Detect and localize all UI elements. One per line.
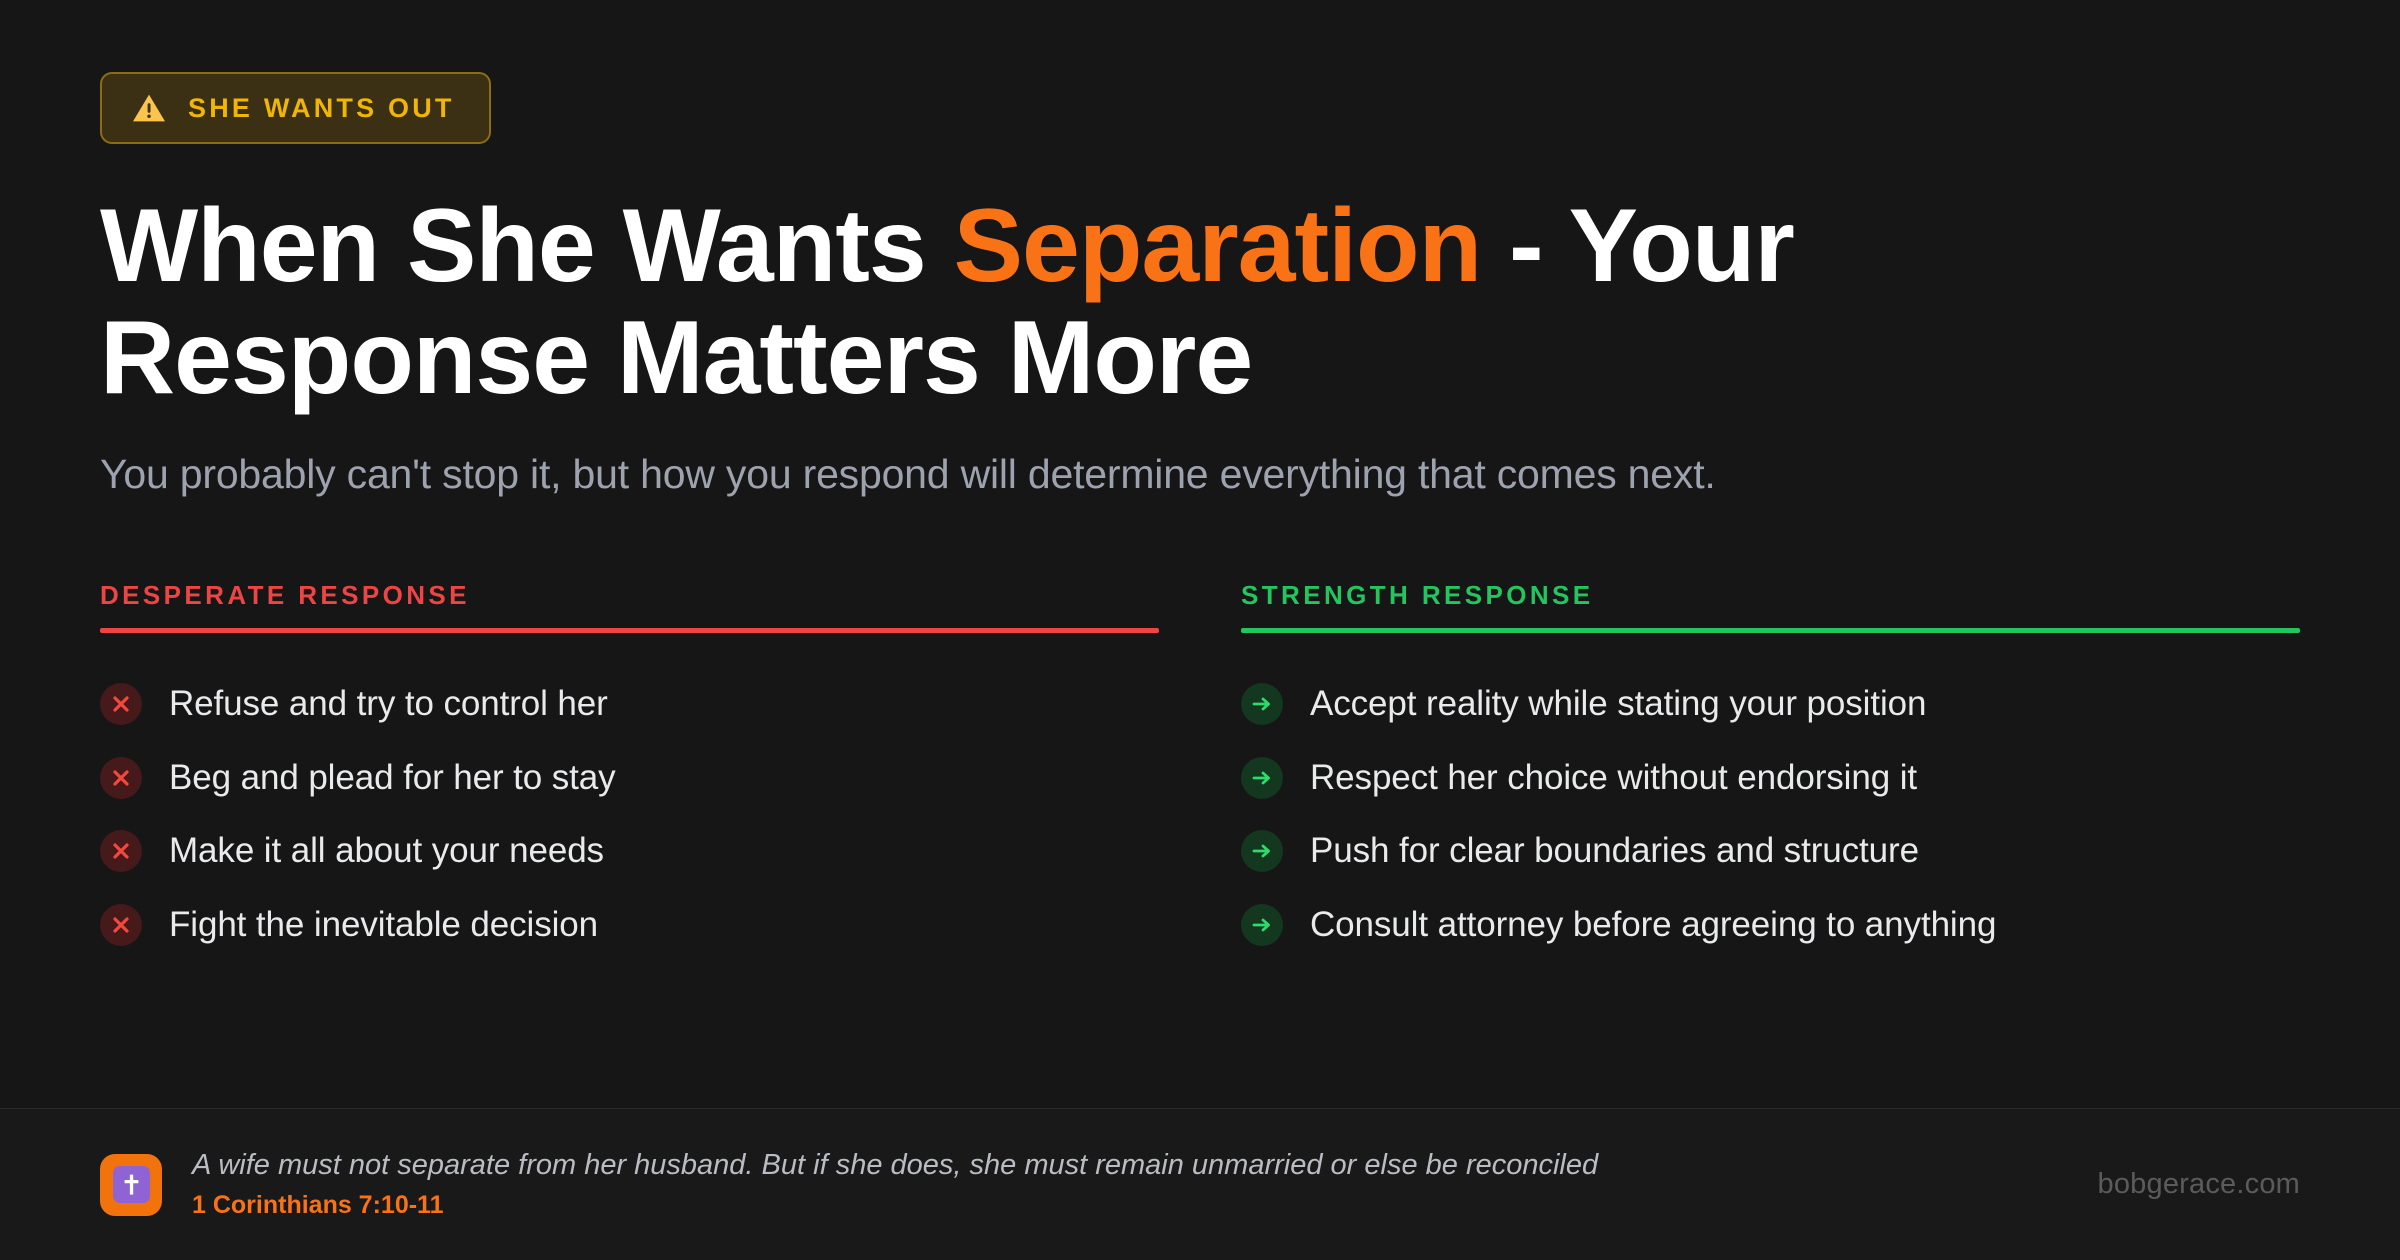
list-item: Consult attorney before agreeing to anyt… xyxy=(1241,888,2300,962)
slide-content: SHE WANTS OUT When She Wants Separation … xyxy=(0,0,2400,1108)
column-divider-strength xyxy=(1241,628,2300,633)
list-item-label: Refuse and try to control her xyxy=(169,682,608,726)
page-subtitle: You probably can't stop it, but how you … xyxy=(100,449,2300,500)
column-strength-response: STRENGTH RESPONSE Accept reality while s… xyxy=(1241,582,2300,962)
list-item-label: Consult attorney before agreeing to anyt… xyxy=(1310,903,1996,947)
list-item: Accept reality while stating your positi… xyxy=(1241,667,2300,741)
page-title-part1: When She Wants xyxy=(100,188,954,304)
list-item-label: Beg and plead for her to stay xyxy=(169,756,616,800)
cross-icon xyxy=(100,1154,162,1216)
status-badge: SHE WANTS OUT xyxy=(100,72,491,144)
page-title: When She Wants Separation - Your Respons… xyxy=(100,190,2060,415)
arrow-right-circle-icon xyxy=(1241,757,1283,799)
warning-triangle-icon xyxy=(132,93,166,123)
list-item: Make it all about your needs xyxy=(100,814,1159,888)
scripture-lines: A wife must not separate from her husban… xyxy=(192,1149,1598,1220)
list-item-label: Accept reality while stating your positi… xyxy=(1310,682,1926,726)
list-item: Push for clear boundaries and structure xyxy=(1241,814,2300,888)
x-circle-icon xyxy=(100,830,142,872)
x-circle-icon xyxy=(100,683,142,725)
cross-icon-inner xyxy=(113,1166,150,1203)
slide-root: SHE WANTS OUT When She Wants Separation … xyxy=(0,0,2400,1260)
list-item: Beg and plead for her to stay xyxy=(100,741,1159,815)
column-divider-desperate xyxy=(100,628,1159,633)
list-item-label: Fight the inevitable decision xyxy=(169,903,598,947)
list-item: Fight the inevitable decision xyxy=(100,888,1159,962)
comparison-columns: DESPERATE RESPONSE Refuse and try to con… xyxy=(100,582,2300,962)
list-item-label: Make it all about your needs xyxy=(169,829,604,873)
list-item-label: Push for clear boundaries and structure xyxy=(1310,829,1919,873)
column-title-strength: STRENGTH RESPONSE xyxy=(1241,582,2300,608)
scripture-block: A wife must not separate from her husban… xyxy=(100,1149,2098,1220)
footer-bar: A wife must not separate from her husban… xyxy=(0,1108,2400,1260)
column-title-desperate: DESPERATE RESPONSE xyxy=(100,582,1159,608)
status-badge-label: SHE WANTS OUT xyxy=(188,95,455,122)
list-item: Refuse and try to control her xyxy=(100,667,1159,741)
arrow-right-circle-icon xyxy=(1241,904,1283,946)
column-desperate-response: DESPERATE RESPONSE Refuse and try to con… xyxy=(100,582,1159,962)
scripture-reference: 1 Corinthians 7:10-11 xyxy=(192,1191,1598,1220)
page-title-accent: Separation xyxy=(954,188,1481,304)
scripture-text: A wife must not separate from her husban… xyxy=(192,1149,1598,1182)
x-circle-icon xyxy=(100,757,142,799)
list-item: Respect her choice without endorsing it xyxy=(1241,741,2300,815)
list-strength: Accept reality while stating your positi… xyxy=(1241,667,2300,962)
arrow-right-circle-icon xyxy=(1241,830,1283,872)
arrow-right-circle-icon xyxy=(1241,683,1283,725)
x-circle-icon xyxy=(100,904,142,946)
list-item-label: Respect her choice without endorsing it xyxy=(1310,756,1917,800)
list-desperate: Refuse and try to control her Beg and pl… xyxy=(100,667,1159,962)
site-attribution: bobgerace.com xyxy=(2098,1168,2301,1201)
